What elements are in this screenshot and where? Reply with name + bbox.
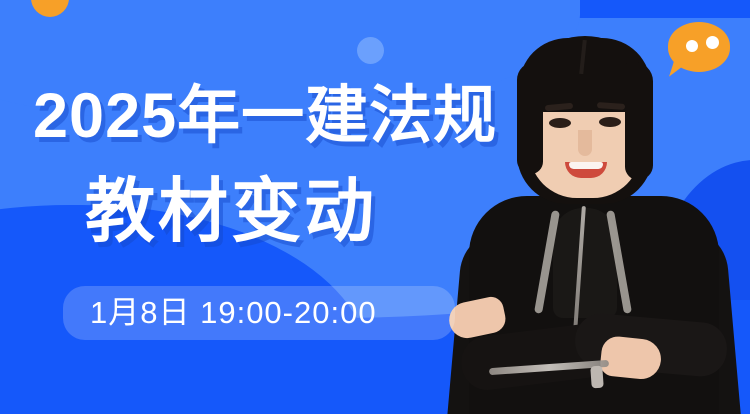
- presenter-teeth: [569, 162, 603, 169]
- orange-circle-icon: [31, 0, 69, 17]
- presenter-eye-right: [599, 117, 621, 127]
- presenter-photo: [425, 0, 750, 414]
- presenter-hair-side-left: [517, 62, 543, 174]
- promotional-banner: 2025年一建法规 教材变动 1月8日 19:00-20:00: [0, 0, 750, 414]
- presenter-eye-left: [549, 118, 571, 128]
- light-circle-icon: [357, 37, 384, 64]
- presenter-hair-side-right: [625, 62, 653, 180]
- page-title-line-2: 教材变动: [85, 176, 377, 246]
- presenter-zipper-pull: [590, 366, 604, 389]
- page-title-line-1: 2025年一建法规: [33, 85, 497, 148]
- presenter-nose: [578, 130, 592, 156]
- date-time-label: 1月8日 19:00-20:00: [90, 286, 377, 340]
